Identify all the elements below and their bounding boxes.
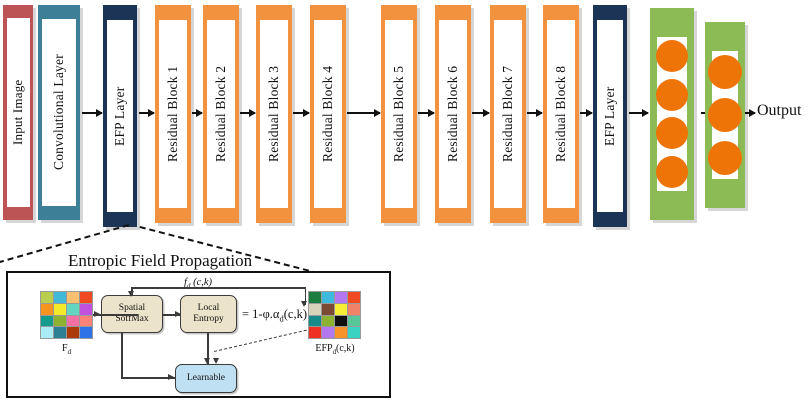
learnable-box: Learnable — [175, 364, 237, 393]
dense-node — [656, 40, 688, 72]
residual-block-1: Residual Block 1 — [155, 5, 191, 223]
entropic-field-propagation-panel: Fd EFPd(c,k) Spatial SotfMax Local Entro… — [6, 271, 391, 398]
efp-output-feature-map-cell — [335, 316, 347, 327]
efp-output-feature-map-cell — [309, 292, 321, 303]
residual-block-6-label: Residual Block 6 — [435, 5, 471, 223]
flow-arrow-6 — [347, 112, 380, 114]
efp-output-feature-map-cell — [335, 304, 347, 315]
dense-node — [656, 156, 688, 188]
input-feature-map-cell — [67, 316, 79, 327]
input-feature-map-cell — [80, 327, 92, 338]
input-feature-map-cell — [80, 304, 92, 315]
input-feature-map-caption: Fd — [40, 343, 93, 356]
efp-layer-1-label: EFP Layer — [103, 5, 137, 227]
efp-output-feature-map-cell — [322, 316, 334, 327]
efp-output-feature-map-cell — [348, 292, 360, 303]
flow-arrow-10 — [580, 112, 592, 114]
input-feature-map-cell — [41, 327, 53, 338]
residual-block-4: Residual Block 4 — [310, 5, 346, 223]
input-image: Input Image — [3, 5, 33, 220]
residual-block-2: Residual Block 2 — [203, 5, 239, 223]
flow-arrow-3 — [192, 112, 202, 114]
input-feature-map-cell — [67, 327, 79, 338]
dense-node — [708, 98, 742, 132]
residual-block-7-label: Residual Block 7 — [490, 5, 526, 223]
dense-layer-1 — [650, 8, 694, 220]
flow-arrow-9 — [527, 112, 542, 114]
arrowhead-learnable-in-dashed — [213, 358, 219, 364]
flow-arrow-7 — [418, 112, 434, 114]
residual-block-1-label: Residual Block 1 — [155, 5, 191, 223]
arrowhead-softmax-in — [94, 311, 100, 317]
convolutional-layer-label: Convolutional Layer — [38, 5, 80, 220]
residual-block-2-label: Residual Block 2 — [203, 5, 239, 223]
efp-output-feature-map — [308, 291, 361, 339]
flow-arrow-4 — [240, 112, 255, 114]
residual-block-8: Residual Block 8 — [543, 5, 579, 223]
connector-softmax-down — [121, 333, 123, 378]
residual-block-3-label: Residual Block 3 — [256, 5, 292, 223]
input-feature-map-cell — [54, 316, 66, 327]
local-entropy-line1: Local — [198, 303, 220, 314]
residual-block-5-label: Residual Block 5 — [381, 5, 417, 223]
efp-equation: = 1-φ.αd(c,k) — [242, 307, 307, 324]
convolutional-layer: Convolutional Layer — [38, 5, 80, 220]
residual-block-7: Residual Block 7 — [490, 5, 526, 223]
arrowhead-feedback-output — [301, 301, 307, 307]
input-image-label: Input Image — [3, 5, 33, 220]
arrowhead-learnable-in-top — [204, 358, 210, 364]
dense-layer-2 — [705, 22, 745, 208]
local-entropy-box: Local Entropy — [180, 295, 237, 333]
efp-output-feature-map-cell — [309, 316, 321, 327]
efp-output-feature-map-cell — [348, 304, 360, 315]
input-feature-map-cell — [67, 304, 79, 315]
arrowhead-learnable-in-left — [168, 374, 174, 380]
arrowhead-feedback-softmax — [128, 291, 134, 297]
flow-arrow-2 — [139, 112, 154, 114]
efp-output-feature-map-cell — [322, 327, 334, 338]
input-feature-map — [40, 291, 93, 339]
dense-node — [656, 79, 688, 111]
detail-panel-title: Entropic Field Propagation — [68, 251, 252, 271]
efp-layer-1: EFP Layer — [103, 5, 137, 227]
output-label: Output — [757, 102, 801, 120]
input-feature-map-cell — [54, 304, 66, 315]
residual-block-8-label: Residual Block 8 — [543, 5, 579, 223]
architecture-diagram: Input ImageConvolutional LayerEFP LayerR… — [0, 0, 809, 402]
efp-layer-2: EFP Layer — [593, 5, 627, 227]
efp-output-feature-map-cell — [309, 304, 321, 315]
residual-block-6: Residual Block 6 — [435, 5, 471, 223]
efp-output-feature-map-cell — [348, 316, 360, 327]
residual-block-5: Residual Block 5 — [381, 5, 417, 223]
efp-layer-2-label: EFP Layer — [593, 5, 627, 227]
efp-output-feature-map-caption: EFPd(c,k) — [291, 343, 379, 356]
flow-arrow-11 — [629, 112, 648, 114]
efp-output-feature-map-cell — [309, 327, 321, 338]
efp-output-feature-map-cell — [348, 327, 360, 338]
efp-output-feature-map-cell — [322, 304, 334, 315]
residual-block-3: Residual Block 3 — [256, 5, 292, 223]
feedback-horizontal — [131, 287, 306, 289]
flow-arrow-5 — [293, 112, 309, 114]
local-entropy-line2: Entropy — [193, 314, 224, 325]
residual-block-4-label: Residual Block 4 — [310, 5, 346, 223]
dense-node — [708, 141, 742, 175]
spatial-softmax-line1: Spatial — [119, 303, 145, 314]
input-feature-map-cell — [41, 316, 53, 327]
input-feature-map-cell — [80, 292, 92, 303]
spatial-softmax-line2: SotfMax — [115, 314, 148, 325]
input-feature-map-cell — [54, 327, 66, 338]
input-feature-map-cell — [41, 304, 53, 315]
efp-output-feature-map-cell — [322, 292, 334, 303]
input-feature-map-cell — [54, 292, 66, 303]
connector-softmax-to-learnable — [121, 377, 175, 379]
input-feature-map-cell — [80, 316, 92, 327]
efp-output-feature-map-cell — [335, 327, 347, 338]
dense-node — [656, 117, 688, 149]
arrowhead-entropy-in — [175, 311, 181, 317]
efp-output-feature-map-cell — [335, 292, 347, 303]
learnable-label: Learnable — [187, 373, 225, 384]
flow-arrow-1 — [82, 112, 102, 114]
input-feature-map-cell — [41, 292, 53, 303]
flow-arrow-8 — [472, 112, 489, 114]
input-feature-map-cell — [67, 292, 79, 303]
